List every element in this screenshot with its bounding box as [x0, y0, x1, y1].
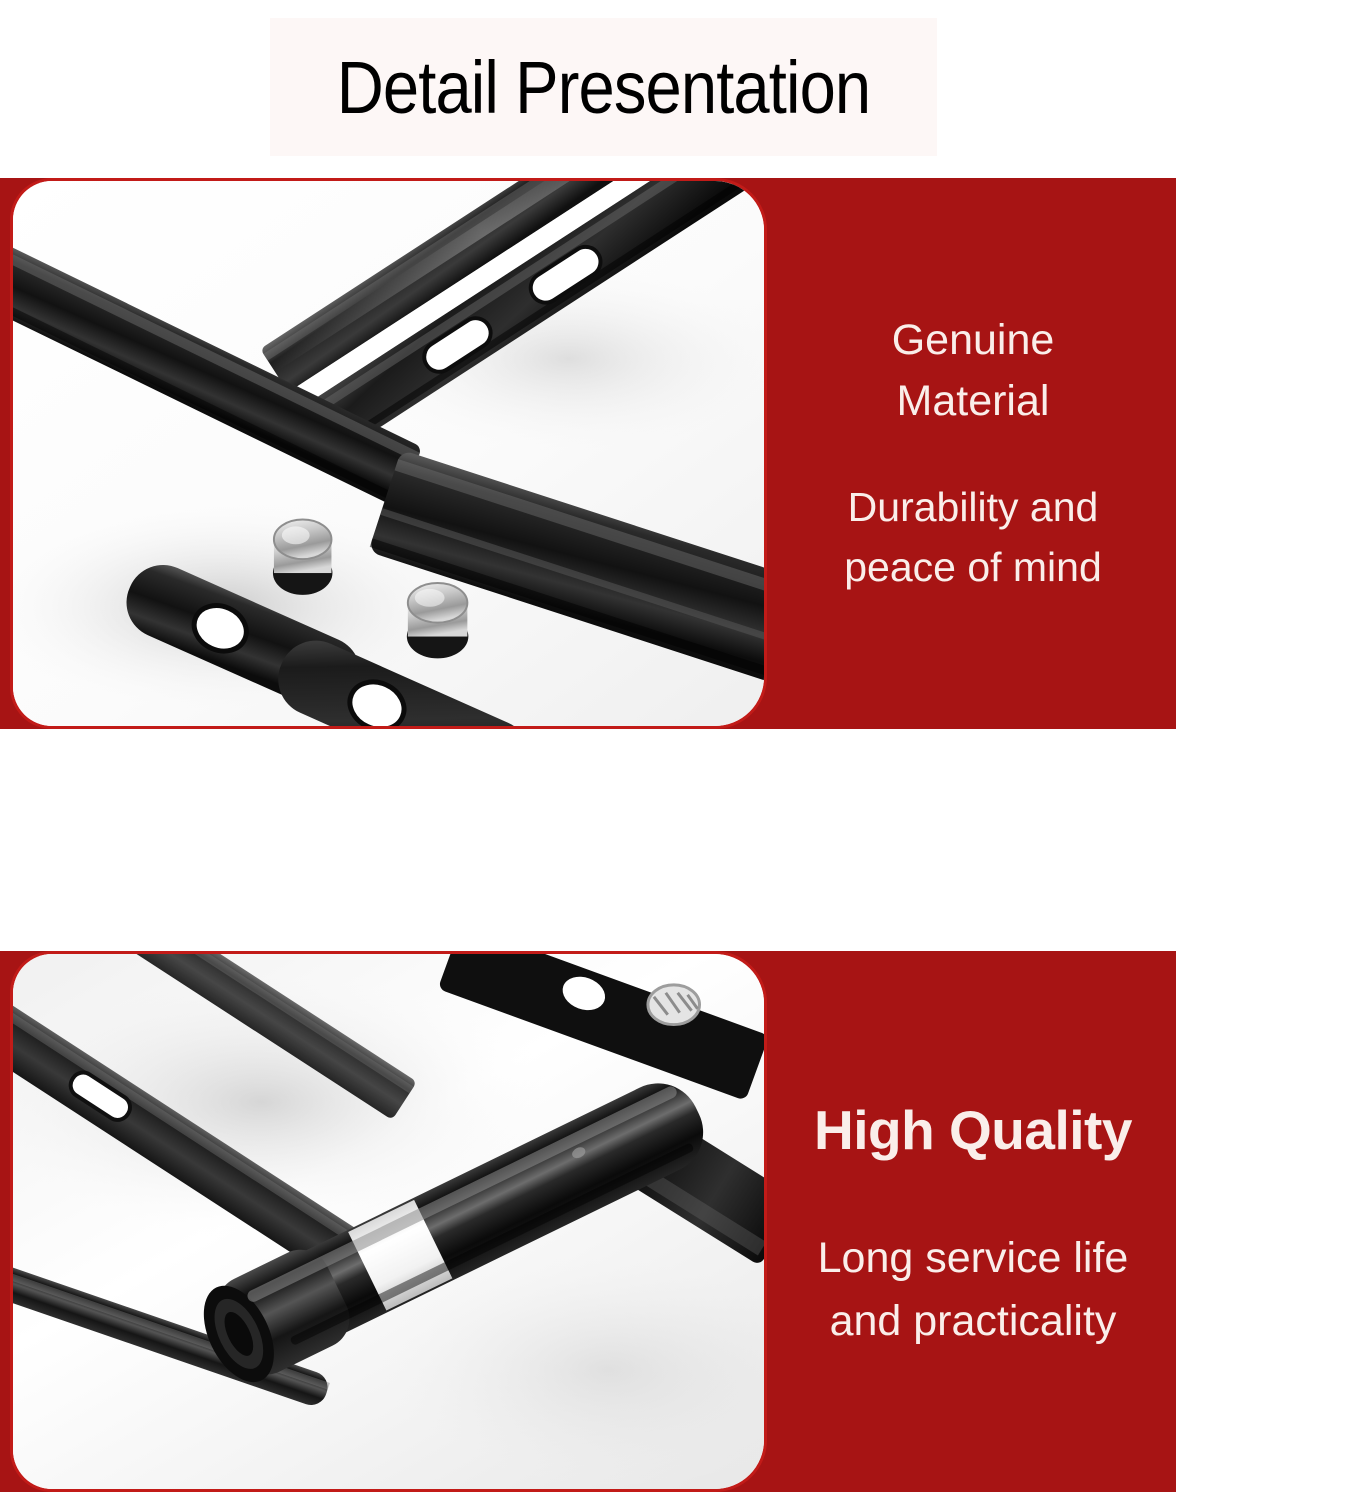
panel-subline: Long service life and practicality	[818, 1227, 1129, 1353]
panel-subline: Durability and peace of mind	[844, 478, 1102, 598]
feature-panel-high-quality: High Quality Long service life and pract…	[0, 951, 1176, 1492]
feature-panel-genuine-material: Genuine Material Durability and peace of…	[0, 178, 1176, 729]
panel-text-genuine-material: Genuine Material Durability and peace of…	[770, 178, 1176, 729]
panel-headline: High Quality	[814, 1091, 1132, 1169]
gas-strut-cylinder-closeup-icon	[13, 954, 764, 1489]
panel-text-high-quality: High Quality Long service life and pract…	[770, 951, 1176, 1492]
panel-headline: Genuine Material	[892, 310, 1055, 432]
page-title: Detail Presentation	[310, 18, 897, 156]
photo-tile-seat-bracket-rails	[10, 178, 767, 729]
photo-tile-gas-strut	[10, 951, 767, 1492]
seat-bracket-rails-closeup-icon	[13, 181, 764, 726]
